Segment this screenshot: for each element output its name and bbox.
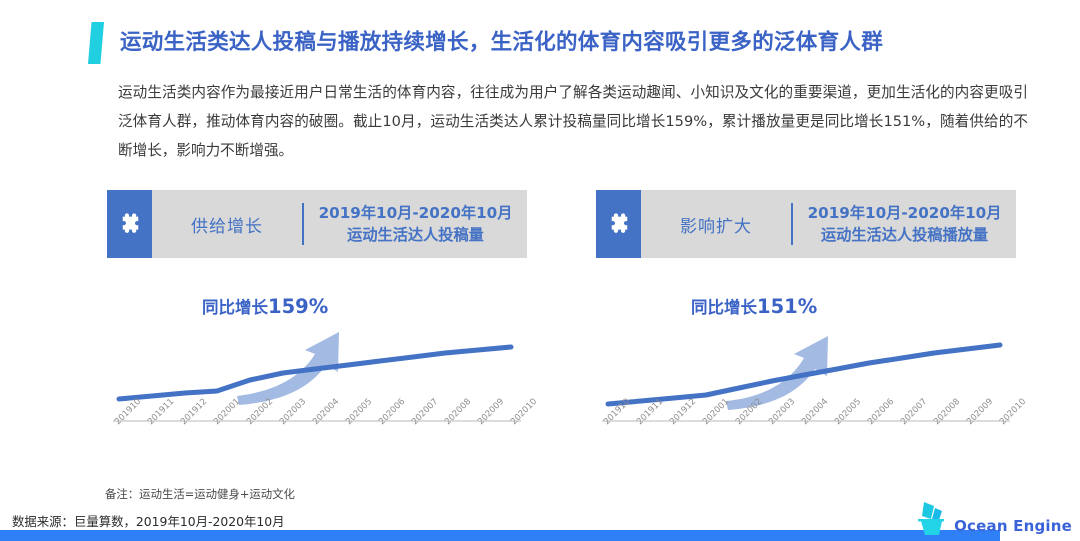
panel-period: 2019年10月-2020年10月 [319, 202, 513, 224]
panel-banner: 供给增长 2019年10月-2020年10月 运动生活达人投稿量 [107, 190, 527, 258]
panel-period: 2019年10月-2020年10月 [808, 202, 1002, 224]
panel-influence-expansion: 影响扩大 2019年10月-2020年10月 运动生活达人投稿播放量 同比增长1… [596, 190, 1016, 465]
chart-influence-expansion: 同比增长151% 201910 201911 201912 202001 202… [596, 280, 1016, 465]
panel-heading: 2019年10月-2020年10月 运动生活达人投稿量 [304, 190, 527, 258]
page-title: 运动生活类达人投稿与播放持续增长，生活化的体育内容吸引更多的泛体育人群 [120, 22, 883, 64]
puzzle-icon [596, 190, 641, 258]
panel-heading: 2019年10月-2020年10月 运动生活达人投稿播放量 [793, 190, 1016, 258]
puzzle-icon [107, 190, 152, 258]
ocean-engine-logo-icon [909, 499, 951, 539]
growth-annotation: 同比增长159% [202, 294, 328, 318]
growth-value: 151% [757, 295, 817, 318]
panel-tag-label: 影响扩大 [641, 190, 791, 258]
page-title-row: 运动生活类达人投稿与播放持续增长，生活化的体育内容吸引更多的泛体育人群 [88, 22, 883, 64]
x-axis-labels-left: 201910 201911 201912 202001 202002 20200… [113, 420, 521, 465]
footer-accent-bar [0, 530, 1000, 541]
growth-label: 同比增长 [202, 298, 268, 317]
x-axis-labels-right: 201910 201911 201912 202001 202002 20200… [602, 420, 1010, 465]
chart-supply-growth: 同比增长159% 201910 201911 201912 202001 202… [107, 280, 527, 465]
title-accent-bar [88, 22, 104, 64]
growth-annotation: 同比增长151% [691, 294, 817, 318]
data-source-label: 数据来源：巨量算数，2019年10月-2020年10月 [12, 512, 285, 530]
growth-value: 159% [268, 295, 328, 318]
body-paragraph: 运动生活类内容作为最接近用户日常生活的体育内容，往往成为用户了解各类运动趣闻、小… [118, 78, 1028, 165]
panel-supply-growth: 供给增长 2019年10月-2020年10月 运动生活达人投稿量 同比增长159… [107, 190, 527, 465]
panel-tag-label: 供给增长 [152, 190, 302, 258]
logo-text: Ocean Engine [954, 517, 1072, 535]
panel-metric: 运动生活达人投稿播放量 [821, 224, 988, 246]
growth-label: 同比增长 [691, 298, 757, 317]
brand-logo: Ocean Engine [909, 499, 1072, 539]
panel-metric: 运动生活达人投稿量 [347, 224, 484, 246]
footnote: 备注：运动生活=运动健身+运动文化 [105, 486, 295, 502]
panel-banner: 影响扩大 2019年10月-2020年10月 运动生活达人投稿播放量 [596, 190, 1016, 258]
